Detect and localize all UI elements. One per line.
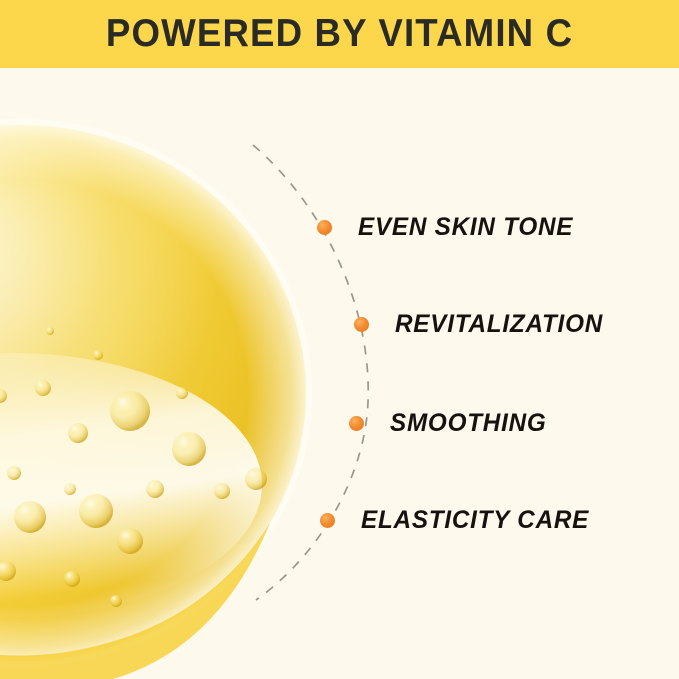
product-benefits-graphic: POWERED BY VITAMIN C — [0, 0, 679, 679]
benefit-item-even-skin-tone[interactable]: EVEN SKIN TONE — [317, 213, 580, 242]
benefit-item-smoothing[interactable]: SMOOTHING — [349, 409, 551, 438]
bullet-dot-icon — [317, 220, 332, 235]
benefit-label: SMOOTHING — [390, 409, 547, 438]
benefit-label: ELASTICITY CARE — [361, 506, 589, 535]
serum-droplet-image — [0, 68, 340, 679]
benefit-item-elasticity-care[interactable]: ELASTICITY CARE — [320, 506, 596, 535]
banner-title: POWERED BY VITAMIN C — [106, 14, 573, 53]
bullet-dot-icon — [320, 513, 335, 528]
benefit-label: REVITALIZATION — [395, 310, 603, 339]
benefit-item-revitalization[interactable]: REVITALIZATION — [354, 310, 609, 339]
benefit-label: EVEN SKIN TONE — [358, 213, 573, 242]
header-banner: POWERED BY VITAMIN C — [0, 0, 679, 68]
bullet-dot-icon — [349, 416, 364, 431]
serum-droplet-illustration — [0, 93, 340, 679]
bullet-dot-icon — [354, 317, 369, 332]
dashed-arc — [0, 0, 679, 679]
